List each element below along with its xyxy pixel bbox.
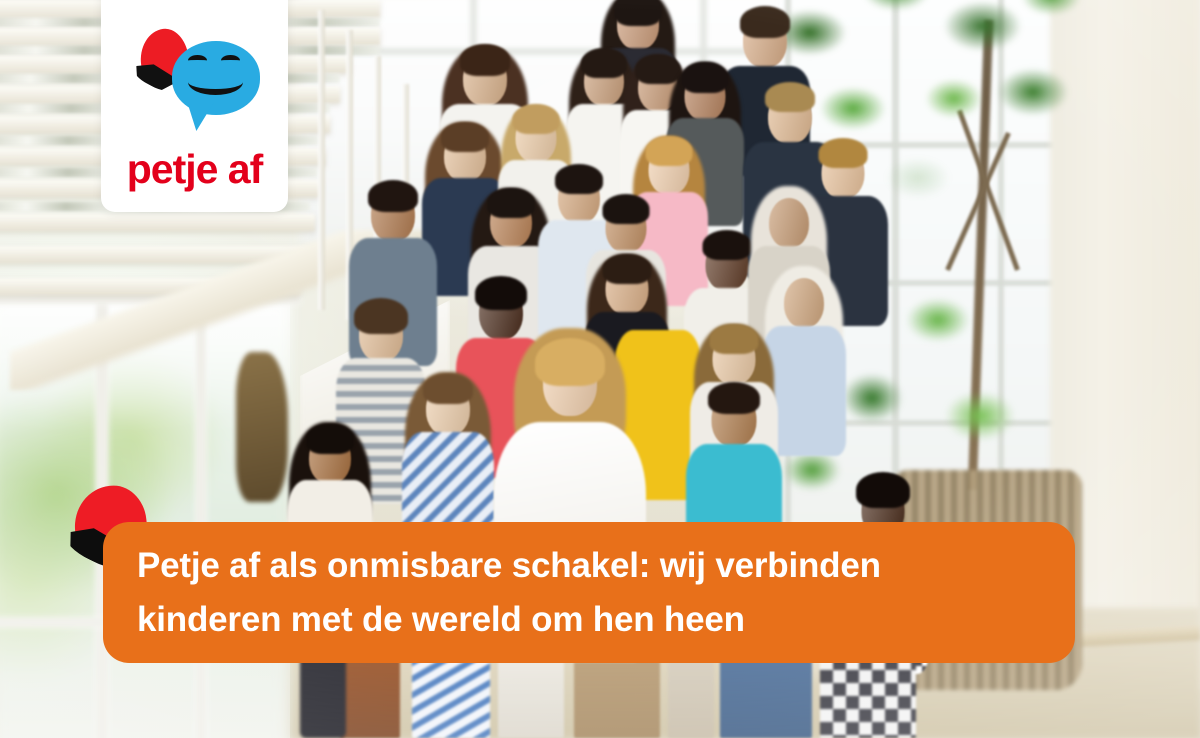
smiley-eye-right-icon	[221, 55, 240, 66]
logo-wordmark: petje af	[127, 149, 263, 190]
headline-line-2: kinderen met de wereld om hen heen	[137, 593, 1041, 646]
logo-mark	[120, 25, 270, 145]
speech-bubble-tail	[188, 103, 214, 131]
petje-af-logo[interactable]: petje af	[101, 0, 288, 212]
headline-banner: Petje af als onmisbare schakel: wij verb…	[103, 522, 1075, 663]
promo-banner-root: petje af Petje af als onmisbare schakel:…	[0, 0, 1200, 738]
smiley-eye-left-icon	[188, 55, 207, 66]
headline-line-1: Petje af als onmisbare schakel: wij verb…	[137, 539, 1041, 592]
smiley-mouth-icon	[188, 69, 243, 95]
